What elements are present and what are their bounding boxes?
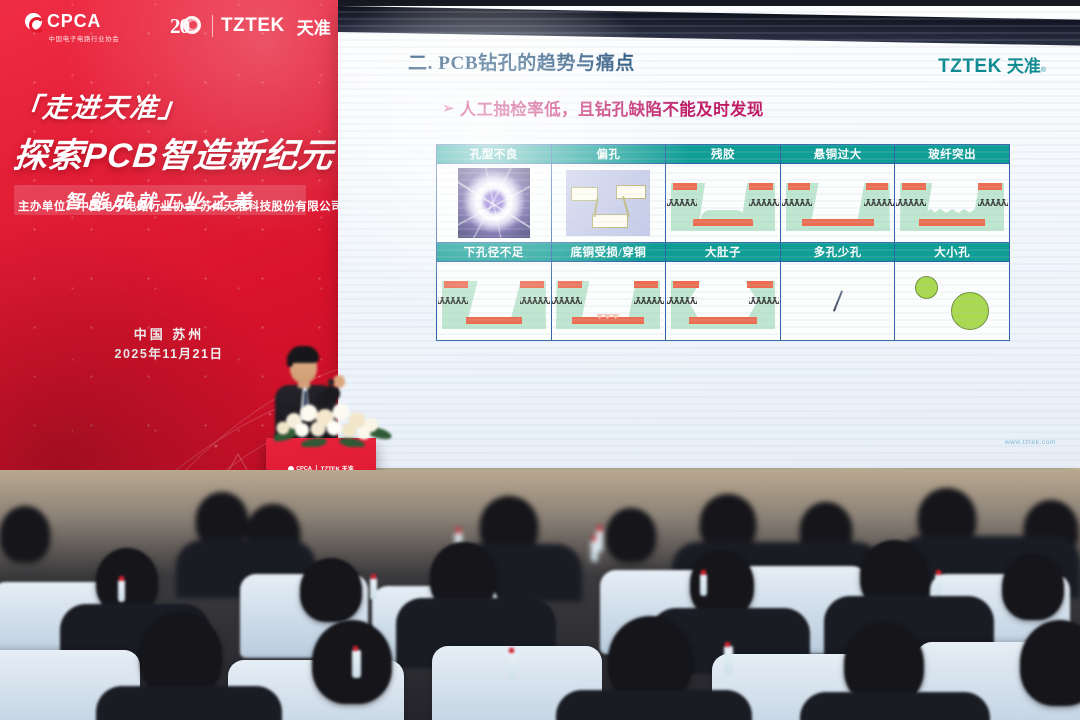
conference-photo-scene: CPCA 中国电子电路行业协会 20 TZTEK 天准 「走进天准」 探索PCB…	[0, 0, 1080, 720]
slide-bullet-text: 人工抽检率低，且钻孔缺陷不能及时发现	[460, 96, 764, 120]
table-image-row-2	[437, 262, 1010, 341]
audience-head	[1002, 554, 1064, 620]
speaker-hair	[288, 346, 319, 363]
bottom-copper-damage-icon	[552, 262, 666, 340]
glass-fiber-right	[749, 199, 779, 206]
cross-section-overhang	[786, 175, 890, 231]
bullet-arrow-icon: ➢	[442, 101, 455, 116]
defect-cell-glass-fiber	[895, 164, 1010, 243]
small-hole-circle	[915, 276, 938, 299]
glass-fiber-right	[520, 297, 550, 304]
water-bottle	[508, 652, 517, 680]
fiber-protrusion-jagged	[926, 208, 978, 219]
barrel-bulge-cross-section-icon	[666, 262, 780, 340]
glass-fiber-left	[896, 199, 926, 206]
banner-headline-group: 「走进天准」 探索PCB智造新纪元 智能成就工业之美	[14, 86, 334, 215]
banner-headline-2: 探索PCB智造新纪元	[11, 128, 336, 177]
bottom-copper	[802, 219, 874, 226]
defect-header-undersized: 下孔径不足	[437, 243, 552, 262]
copper-pad-left	[558, 281, 582, 288]
cpca-subtitle: 中国电子电路行业协会	[25, 34, 143, 43]
defect-header-residual-glue: 残胶	[666, 145, 781, 164]
water-bottle	[596, 530, 603, 552]
defect-header-hole-shape: 孔型不良	[437, 145, 552, 164]
defect-header-glass-fiber: 玻纤突出	[895, 145, 1010, 164]
glass-fiber-left	[667, 199, 697, 206]
glass-fiber-left	[782, 199, 812, 206]
cpca-circle-icon	[25, 13, 42, 30]
audience-head	[300, 558, 362, 622]
audience-shoulders	[800, 692, 990, 720]
water-bottle	[118, 580, 125, 602]
banner-logo-row: CPCA 中国电子电路行业协会 20 TZTEK 天准	[0, 9, 338, 53]
tztek-logo: 20 TZTEK 天准	[170, 13, 331, 39]
slide-title: 二. PCB钻孔的趋势与痛点	[408, 48, 635, 75]
slide-logo-cn: 天准	[1007, 52, 1041, 77]
water-bottle	[352, 650, 361, 678]
audience-head	[0, 506, 50, 562]
slide-website-url: www.tztek.com	[1005, 439, 1056, 446]
copper-pad-right	[978, 183, 1002, 190]
layer-pad-right	[616, 185, 646, 199]
projection-screen: 二. PCB钻孔的趋势与痛点 TZTEK 天准 ® ➢ 人工抽检率低，且钻孔缺陷…	[338, 6, 1080, 468]
audience-area	[0, 470, 1080, 720]
cross-section-copper-damage	[556, 273, 660, 329]
tztek-wordmark: TZTEK	[221, 15, 285, 37]
scratch-mark-icon	[781, 262, 895, 340]
logo-divider	[212, 15, 213, 37]
copper-pad-left	[444, 281, 468, 288]
copper-pad-right	[749, 183, 773, 190]
banner-headline-1: 「走进天准」	[12, 86, 336, 125]
defect-cell-undersized	[437, 262, 552, 341]
defect-cell-misaligned	[551, 164, 666, 243]
audience-shoulders	[556, 690, 752, 720]
table-image-row-1	[437, 164, 1010, 243]
bottom-copper	[693, 219, 753, 226]
bottom-copper	[689, 317, 757, 324]
banner-location: 中国 苏州	[0, 324, 338, 343]
slide-bullet: ➢ 人工抽检率低，且钻孔缺陷不能及时发现	[442, 96, 764, 120]
cross-section-residual	[671, 175, 775, 231]
water-bottle	[370, 578, 377, 600]
glass-fiber-left	[438, 297, 468, 304]
audience-shoulders	[96, 686, 282, 720]
residual-glue-cross-section-icon	[666, 164, 780, 242]
copper-pad-right	[747, 281, 773, 288]
glass-fiber-right	[634, 297, 664, 304]
defect-types-table: 孔型不良 偏孔 残胶 悬铜过大 玻纤突出	[436, 144, 1010, 341]
copper-pad-left	[902, 183, 926, 190]
cpca-wordmark: CPCA	[47, 11, 101, 32]
slide-logo-en: TZTEK	[938, 56, 1002, 78]
defect-cell-hole-size	[895, 262, 1010, 341]
defect-header-barrel-bulge: 大肚子	[666, 243, 781, 262]
bottom-copper	[919, 219, 985, 226]
bottom-copper	[572, 317, 644, 324]
copper-pad-right	[866, 183, 888, 190]
banner-organizer-line: 主办单位：中国电子电路行业协会 苏州天准科技股份有限公司	[18, 198, 328, 214]
registered-mark-icon: ®	[1041, 67, 1046, 74]
defect-cell-hole-shape	[437, 164, 552, 243]
speaker-hand	[333, 375, 345, 388]
tztek-wordmark-cn: 天准	[297, 14, 331, 39]
glass-fiber-right	[749, 297, 779, 304]
table-header-row-1: 孔型不良 偏孔 残胶 悬铜过大 玻纤突出	[437, 145, 1010, 164]
anniversary-20-icon: 20	[170, 13, 204, 39]
layer-pad-left	[571, 187, 598, 201]
defect-cell-copper-damage	[551, 262, 666, 341]
misaligned-layers	[566, 170, 650, 236]
copper-pad-right	[520, 281, 544, 288]
cross-section-glass-fiber	[900, 175, 1004, 231]
glass-fiber-protrusion-icon	[895, 164, 1009, 242]
glass-fiber-left	[552, 297, 582, 304]
undersized-hole-cross-section-icon	[437, 262, 551, 340]
defect-header-hole-size: 大小孔	[895, 243, 1010, 262]
defect-header-copper-damage: 底铜受损/穿铜	[551, 243, 666, 262]
defect-cell-barrel-bulge	[666, 262, 781, 341]
copper-pad-left	[673, 281, 699, 288]
cross-section-bulge	[671, 273, 775, 329]
large-hole-circle	[951, 292, 989, 330]
cross-section-undersized	[442, 273, 546, 329]
cpca-logo: CPCA 中国电子电路行业协会	[25, 11, 143, 43]
glass-fiber-right	[978, 199, 1008, 206]
copper-pad-right	[634, 281, 658, 288]
thin-scratch-line	[833, 290, 843, 311]
defect-cell-extra-missing-hole	[780, 262, 895, 341]
residual-glue-hump	[701, 210, 745, 219]
defect-header-extra-missing-hole: 多孔少孔	[780, 243, 895, 262]
layer-pad-bottom	[592, 214, 628, 228]
bottom-copper	[466, 317, 522, 324]
water-bottle	[700, 574, 707, 596]
flower-arrangement	[274, 399, 392, 447]
glass-fiber-left	[667, 297, 697, 304]
anniversary-ring-inner	[187, 19, 199, 31]
copper-pad-left	[788, 183, 810, 190]
copper-overhang-cross-section-icon	[781, 164, 895, 242]
table-header-row-2: 下孔径不足 底铜受损/穿铜 大肚子 多孔少孔 大小孔	[437, 243, 1010, 262]
crack-burst-image	[458, 168, 530, 238]
presentation-slide: 二. PCB钻孔的趋势与痛点 TZTEK 天准 ® ➢ 人工抽检率低，且钻孔缺陷…	[338, 22, 1080, 462]
defect-cell-residual-glue	[666, 164, 781, 243]
defect-header-misaligned: 偏孔	[551, 145, 666, 164]
uneven-hole-size-icon	[895, 262, 1009, 340]
water-bottle	[724, 646, 733, 674]
defect-header-copper-overhang: 悬铜过大	[780, 145, 895, 164]
audience-head	[606, 508, 656, 562]
hole-crack-micrograph-icon	[437, 164, 551, 242]
hole-size-comparison	[907, 270, 997, 332]
copper-pad-left	[673, 183, 697, 190]
defect-cell-copper-overhang	[780, 164, 895, 243]
glass-fiber-right	[864, 199, 894, 206]
water-bottle	[935, 574, 942, 596]
misaligned-hole-diagram-icon	[552, 164, 666, 242]
slide-tztek-logo: TZTEK 天准 ®	[938, 52, 1046, 78]
